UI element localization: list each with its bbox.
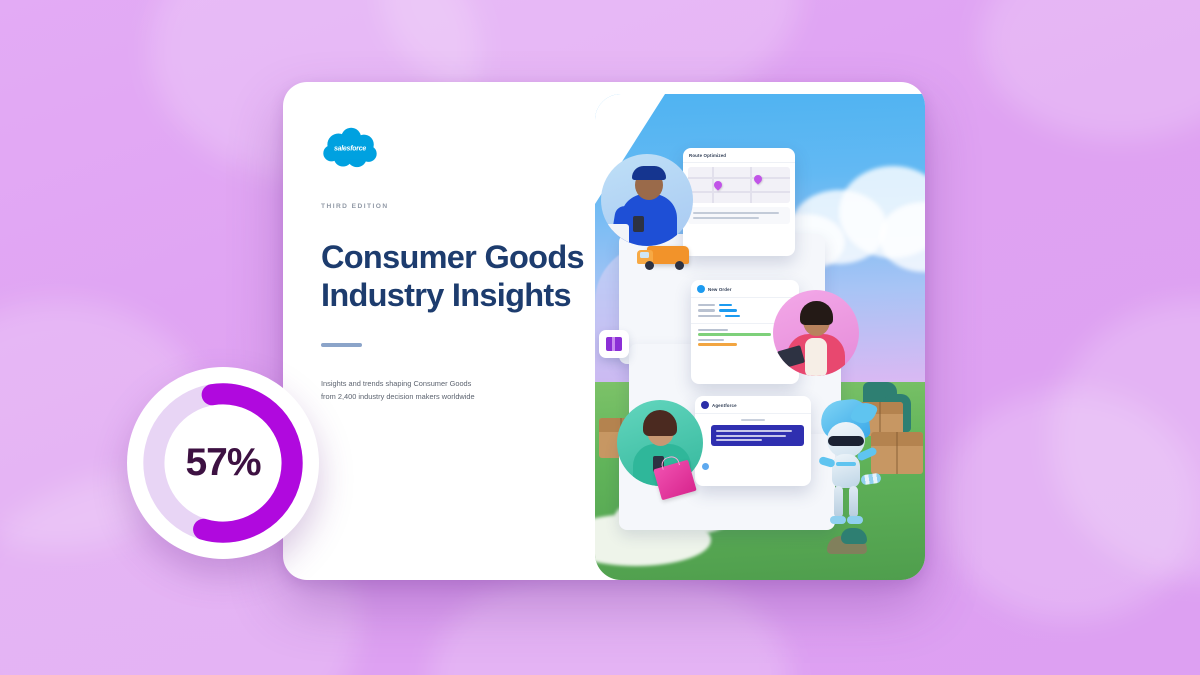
- title-accent-rule: [321, 343, 362, 347]
- astro-foot-left: [830, 516, 846, 524]
- astro-robot-mascot: [813, 400, 877, 528]
- page-title-line-1: Consumer Goods: [321, 239, 584, 275]
- edition-label: THIRD EDITION: [321, 203, 610, 210]
- astro-foot-right: [847, 516, 863, 524]
- svg-text:salesforce: salesforce: [334, 145, 366, 152]
- field-value: [719, 309, 737, 311]
- page-title: Consumer Goods Industry Insights: [321, 238, 610, 314]
- bubble-line: [716, 435, 786, 437]
- text-line: [693, 212, 779, 214]
- map-street: [688, 177, 790, 179]
- astro-arm-left: [818, 456, 836, 468]
- bubble-line: [716, 439, 762, 441]
- order-card-title: New Order: [708, 287, 732, 292]
- route-card-header: Route Optimized: [683, 148, 795, 163]
- rep-hair: [800, 301, 833, 325]
- map-street: [688, 191, 790, 193]
- field-value: [725, 315, 740, 317]
- shopper-hair: [643, 410, 677, 436]
- driver-phone: [633, 216, 644, 232]
- driver-cap: [632, 166, 666, 180]
- avatar-icon: [697, 285, 705, 293]
- van-window: [640, 252, 649, 258]
- parcel-ribbon: [612, 337, 615, 351]
- astro-leg-left: [834, 486, 843, 518]
- route-map: [688, 167, 790, 203]
- field-rep-photo: [773, 290, 859, 376]
- report-cover-card[interactable]: salesforce THIRD EDITION Consumer Goods …: [283, 82, 925, 580]
- van-body: [647, 246, 689, 264]
- chat-bubble: [711, 425, 804, 446]
- cloud-blob: [980, 0, 1200, 140]
- cover-illustration: Route Optimized: [595, 82, 925, 580]
- text-line: [693, 217, 759, 219]
- map-street: [750, 167, 752, 203]
- map-pin: [752, 173, 763, 184]
- field-value: [719, 304, 732, 306]
- box-seam: [879, 402, 881, 436]
- astro-sunglasses: [828, 436, 864, 446]
- delivery-van: [637, 242, 693, 272]
- stump-shrub: [841, 528, 867, 544]
- delivery-driver-photo: [601, 154, 693, 246]
- route-note: [688, 207, 790, 224]
- cardboard-box: [871, 432, 923, 474]
- van-wheel: [675, 261, 684, 270]
- agentforce-card-header: Agentforce: [695, 396, 811, 414]
- progress-label: [698, 339, 724, 341]
- astro-torso: [832, 454, 860, 488]
- illustration-canvas: Route Optimized: [595, 94, 925, 580]
- chat-avatar: [702, 463, 709, 470]
- astro-leg-right: [849, 486, 858, 518]
- progress-label: [698, 329, 728, 331]
- van-wheel: [645, 261, 654, 270]
- cover-subtitle-line-2: from 2,400 industry decision makers worl…: [321, 392, 475, 401]
- progress-bar: [698, 333, 771, 336]
- field-label: [698, 309, 715, 311]
- progress-bar: [698, 343, 737, 346]
- chat-timestamp: [741, 419, 765, 421]
- rep-blouse: [805, 338, 827, 376]
- cover-text-column: salesforce THIRD EDITION Consumer Goods …: [283, 82, 610, 580]
- gauge-value-label: 57%: [185, 441, 260, 485]
- map-pin: [712, 179, 723, 190]
- bubble-line: [716, 430, 792, 432]
- field-label: [698, 304, 715, 306]
- agentforce-chat-card[interactable]: Agentforce: [695, 396, 811, 486]
- field-label: [698, 315, 721, 317]
- cover-subtitle: Insights and trends shaping Consumer Goo…: [321, 377, 553, 403]
- salesforce-cloud-logo-icon: salesforce: [321, 127, 379, 169]
- route-card-title: Route Optimized: [689, 153, 726, 158]
- astro-chest-stripe: [836, 462, 856, 466]
- agentforce-card-title: Agentforce: [712, 403, 737, 408]
- route-optimized-card[interactable]: Route Optimized: [683, 148, 795, 256]
- box-seam: [896, 432, 898, 474]
- cover-subtitle-line-1: Insights and trends shaping Consumer Goo…: [321, 379, 471, 388]
- page-title-line-2: Industry Insights: [321, 277, 571, 313]
